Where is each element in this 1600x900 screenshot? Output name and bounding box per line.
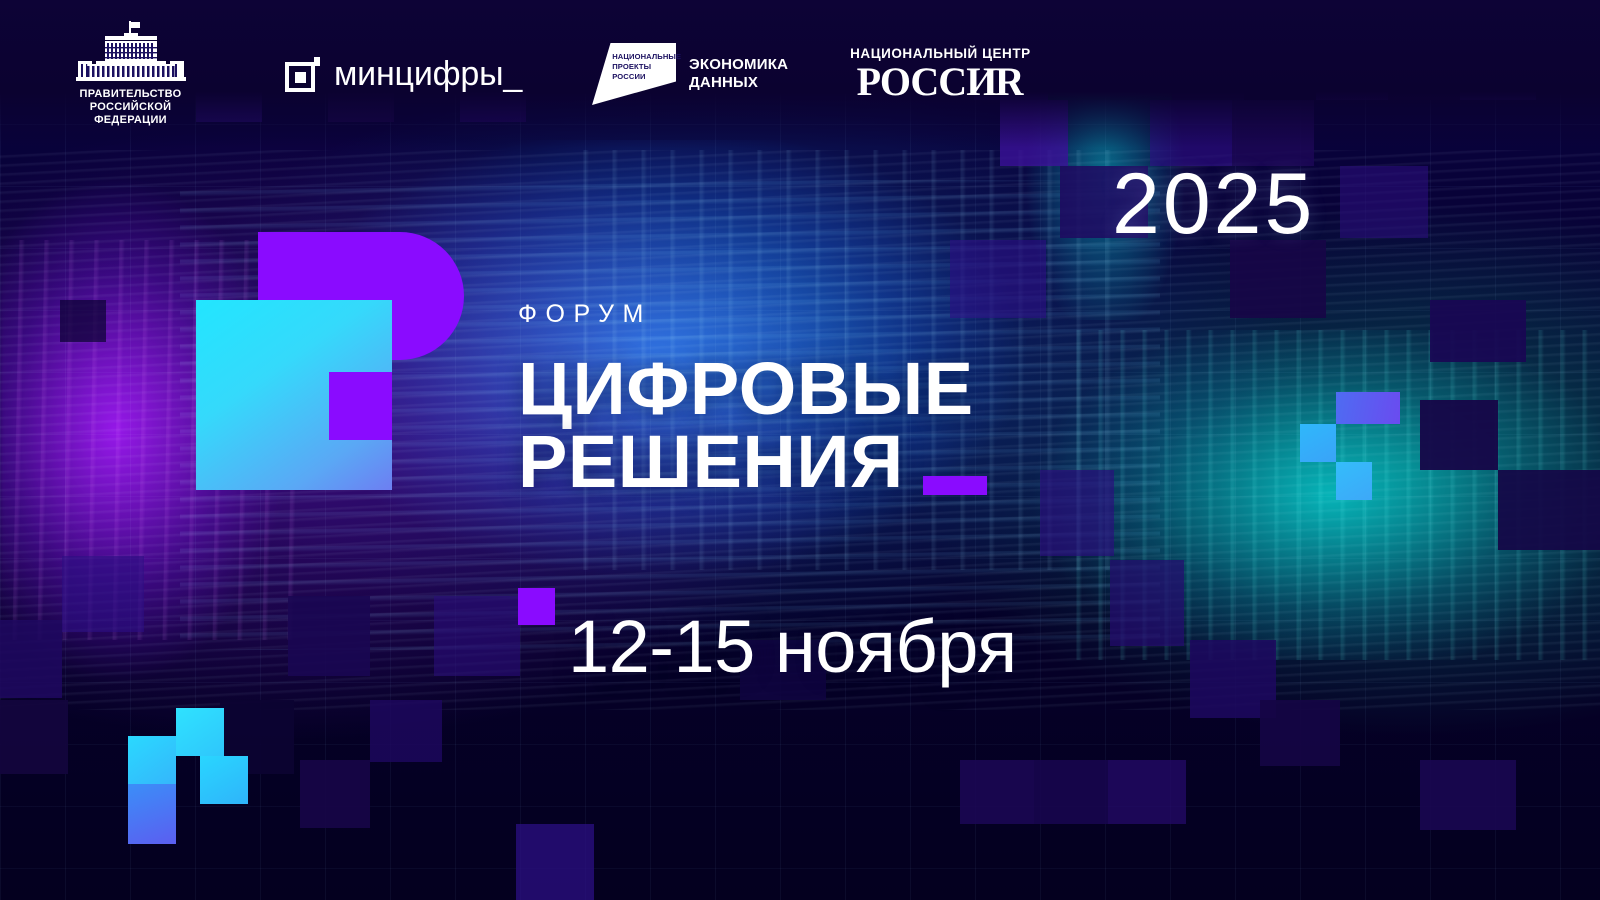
russia-wordmark-last: Я	[996, 62, 1024, 103]
forum-r-logo-icon	[196, 232, 464, 490]
accent-tile	[128, 784, 176, 844]
forum-headline-line1: ЦИФРОВЫЕ	[518, 347, 974, 430]
forum-headline-line2-wrap: РЕШЕНИЯ	[518, 426, 974, 499]
forum-dates: 12-15 ноября	[568, 604, 1017, 689]
np-title-line1: ЭКОНОМИКА	[689, 56, 788, 74]
russia-wordmark-mid: ОССИ	[880, 59, 997, 104]
forum-headline: ЦИФРОВЫЕ РЕШЕНИЯ	[518, 353, 974, 498]
partner-logo-bar: ПРАВИТЕЛЬСТВО РОССИЙСКОЙ ФЕДЕРАЦИИ минци…	[0, 0, 1600, 148]
accent-tile	[200, 756, 248, 804]
mincifry-square-icon	[285, 57, 320, 92]
forum-headline-line2: РЕШЕНИЯ	[518, 420, 904, 503]
logo-government-rf: ПРАВИТЕЛЬСТВО РОССИЙСКОЙ ФЕДЕРАЦИИ	[58, 21, 203, 127]
accent-tile	[128, 736, 176, 784]
accent-tile	[176, 708, 224, 756]
national-projects-flag-icon: НАЦИОНАЛЬНЫЕ ПРОЕКТЫ РОССИИ	[592, 43, 676, 105]
np-flag-line1: НАЦИОНАЛЬНЫЕ	[612, 52, 671, 62]
government-caption-line3: ФЕДЕРАЦИИ	[80, 114, 182, 127]
accent-tile	[1336, 392, 1400, 424]
accent-tile	[1300, 424, 1336, 462]
np-flag-line3: РОССИИ	[612, 72, 671, 82]
date-accent-tile	[518, 588, 555, 625]
logo-mincifry: минцифры_	[285, 55, 522, 94]
russia-wordmark: РОССИЯ	[857, 62, 1025, 103]
forum-year: 2025	[1112, 155, 1315, 254]
national-projects-flag-caption: НАЦИОНАЛЬНЫЕ ПРОЕКТЫ РОССИИ	[612, 52, 671, 82]
government-building-icon	[72, 21, 190, 83]
russia-wordmark-pre: Р	[857, 59, 880, 104]
government-caption: ПРАВИТЕЛЬСТВО РОССИЙСКОЙ ФЕДЕРАЦИИ	[80, 88, 182, 127]
logo-national-centre-russia: НАЦИОНАЛЬНЫЙ ЦЕНТР РОССИЯ	[850, 46, 1031, 103]
underscore-accent	[923, 476, 987, 495]
government-caption-line2: РОССИЙСКОЙ	[80, 101, 182, 114]
forum-promo-banner: ПРАВИТЕЛЬСТВО РОССИЙСКОЙ ФЕДЕРАЦИИ минци…	[0, 0, 1600, 900]
forum-kicker: ФОРУМ	[518, 300, 974, 329]
forum-title-block: ФОРУМ ЦИФРОВЫЕ РЕШЕНИЯ	[518, 300, 974, 498]
logo-national-projects: НАЦИОНАЛЬНЫЕ ПРОЕКТЫ РОССИИ ЭКОНОМИКА ДА…	[592, 43, 788, 105]
accent-tile	[1336, 462, 1372, 500]
np-title-line2: ДАННЫХ	[689, 74, 788, 92]
government-caption-line1: ПРАВИТЕЛЬСТВО	[80, 88, 182, 101]
np-flag-line2: ПРОЕКТЫ	[612, 62, 671, 72]
mincifry-wordmark: минцифры_	[334, 55, 522, 94]
national-projects-title: ЭКОНОМИКА ДАННЫХ	[689, 56, 788, 93]
